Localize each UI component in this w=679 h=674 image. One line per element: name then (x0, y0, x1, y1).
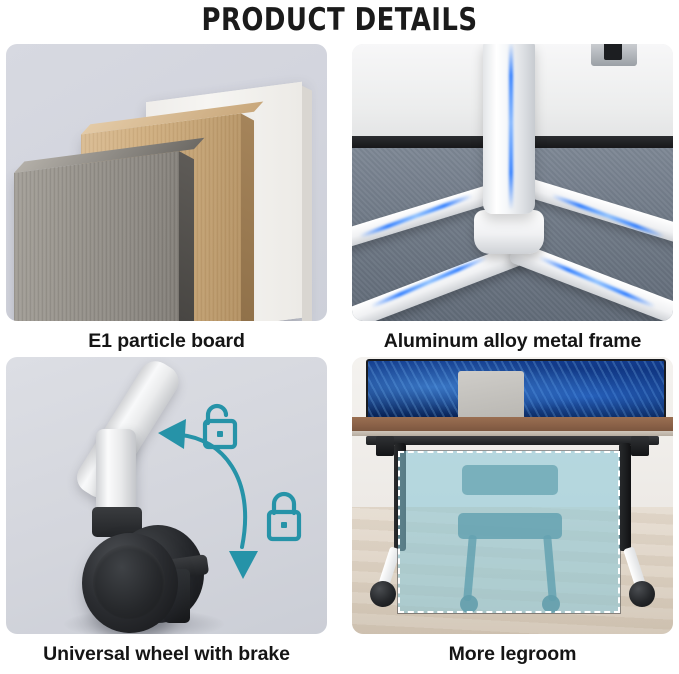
laptop-screen (458, 371, 524, 419)
caption-particle-board: E1 particle board (6, 321, 327, 356)
board-oak-side-edge (241, 113, 254, 321)
particle-board-photo (6, 44, 327, 321)
caster-wheel-photo (6, 357, 327, 634)
unlock-icon (205, 406, 235, 447)
caption-metal-frame: Aluminum alloy metal frame (352, 321, 673, 356)
brake-arrow-head-lock (229, 551, 258, 579)
desk-leg-post-right (619, 443, 631, 551)
frame-leg-center-joint (474, 210, 544, 254)
desk-top-surface (352, 417, 673, 431)
detail-card-caster-wheel: Universal wheel with brake (6, 357, 327, 669)
detail-card-metal-frame: Aluminum alloy metal frame (352, 44, 673, 356)
caption-caster-wheel: Universal wheel with brake (6, 634, 327, 669)
lock-icon (269, 494, 299, 539)
detail-card-legroom: More legroom (352, 357, 673, 669)
column-glow (509, 44, 513, 210)
brake-annotation-group (6, 357, 327, 634)
page-title: PRODUCT DETAILS (24, 0, 655, 42)
product-details-infographic: PRODUCT DETAILS E1 particle board (0, 0, 679, 673)
board-white-edge (302, 86, 312, 321)
desk-cross-rail (366, 436, 659, 445)
desk-caster-right (629, 581, 655, 607)
frame-center-column (483, 44, 535, 214)
metal-frame-photo (352, 44, 673, 321)
desk-bracket-right (631, 436, 649, 456)
legroom-photo (352, 357, 673, 634)
detail-card-particle-board: E1 particle board (6, 44, 327, 356)
desk-caster-left (370, 581, 396, 607)
legroom-highlight-area (398, 451, 620, 613)
caption-legroom: More legroom (352, 634, 673, 669)
desk-bracket-left (376, 436, 394, 456)
board-gray-side-edge (179, 151, 194, 321)
board-gray (14, 151, 179, 321)
cable-clip (591, 44, 637, 66)
details-grid: E1 particle board (6, 44, 673, 669)
brake-arrow-head-unlock (158, 419, 186, 449)
brake-arrow-curve (181, 435, 245, 547)
